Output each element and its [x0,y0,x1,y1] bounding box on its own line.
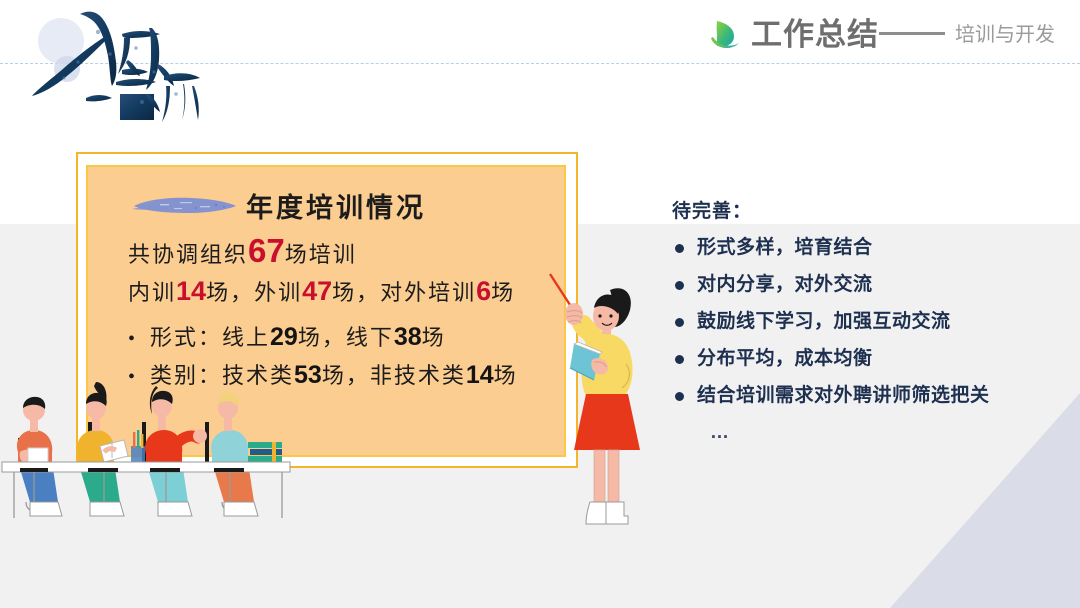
card-line-total-text: 共协调组织67场培训 [128,242,357,267]
improvements-heading: 待完善： [672,196,1072,223]
card-text-run: 38 [394,323,422,351]
list-item-label: 对内分享，对外交流 [697,274,873,296]
teacher-illustration [548,272,658,534]
page-title-text: 工作总结 [751,17,879,52]
improvements-panel: 待完善： 形式多样，培育结合 对内分享，对外交流 鼓励线下学习，加强互动交流 分… [672,196,1072,444]
card-text-run: 场 [491,280,515,305]
improvements-list: 形式多样，培育结合 对内分享，对外交流 鼓励线下学习，加强互动交流 分布平均，成… [672,237,1072,444]
bullet-dot-icon [675,392,684,401]
card-text-run: 场，外训 [206,280,302,305]
card-text-run: 形式：线上 [150,325,270,350]
card-text-run: 6 [476,276,491,306]
bullet-dot-icon [675,244,684,253]
card-text-run: 14 [176,276,206,306]
card-line-format-text: 形式：线上29场，线下38场 [150,325,446,350]
slide-canvas: 工作总结 培训与开发 年度培训情况 [0,0,1080,608]
classroom-students-illustration [0,352,300,540]
page-title: 工作总结 [751,18,947,52]
card-line-total: 共协调组织67场培训 [128,232,357,270]
list-item-label: 鼓励线下学习，加强互动交流 [697,311,951,333]
card-line-breakdown: 内训14场，外训47场，对外培训6场 [128,275,515,307]
card-line-breakdown-text: 内训14场，外训47场，对外培训6场 [128,280,515,305]
bullet-dot-icon [675,318,684,327]
card-text-run: 29 [270,323,298,351]
training-card-title: 年度培训情况 [246,186,426,225]
page-subtitle: 培训与开发 [955,18,1055,52]
card-text-run: 场，非技术类 [322,363,466,388]
list-item-label: 结合培训需求对外聘讲师筛选把关 [697,385,990,407]
improvements-ellipsis: … [710,422,1072,444]
training-card-title-row: 年度培训情况 [130,186,426,225]
list-item: 结合培训需求对外聘讲师筛选把关 [672,385,1072,407]
card-text-run: 场 [422,325,446,350]
list-item-label: 形式多样，培育结合 [697,237,873,259]
card-line-format: •形式：线上29场，线下38场 [128,320,446,352]
card-text-run: 共协调组织 [128,242,248,267]
title-divider [879,32,945,35]
card-text-run: 场，线下 [298,325,394,350]
list-item: 对内分享，对外交流 [672,274,1072,296]
card-text-run: 场培训 [285,242,357,267]
bullet-dot-icon [675,281,684,290]
list-item: 分布平均，成本均衡 [672,348,1072,370]
slide-header: 工作总结 培训与开发 [708,18,1055,52]
list-item-label: 分布平均，成本均衡 [697,348,873,370]
card-text-run: 67 [248,232,285,269]
card-text-run: 内训 [128,280,176,305]
bullet-dot-icon [675,355,684,364]
brand-calligraphy-logo [18,2,208,132]
blue-brush-stroke-icon [130,193,238,219]
list-item: 鼓励线下学习，加强互动交流 [672,311,1072,333]
list-item: 形式多样，培育结合 [672,237,1072,259]
card-text-run: 场，对外培训 [332,280,476,305]
leaf-d-logo-icon [708,18,742,52]
card-text-run: 14 [466,361,494,389]
card-text-run: 场 [494,363,518,388]
card-text-run: 47 [302,276,332,306]
card-bullet-format: • [128,328,150,351]
